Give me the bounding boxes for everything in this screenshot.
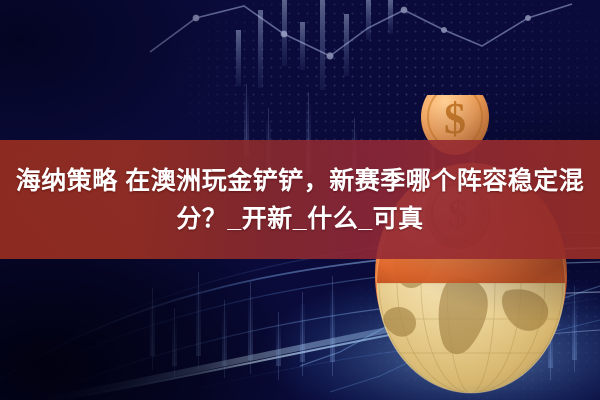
headline-line-2: 分？_开新_什么_可真 xyxy=(176,200,423,238)
headline-line-1: 海纳策略 在澳洲玩金铲铲，新赛季哪个阵容稳定混 xyxy=(16,162,584,200)
headline-banner: 海纳策略 在澳洲玩金铲铲，新赛季哪个阵容稳定混 分？_开新_什么_可真 xyxy=(0,140,600,259)
promo-image: $ $ 海纳策略 在澳洲玩金铲铲，新赛季哪个阵容稳定混 分？_开新_什么_可真 xyxy=(0,0,600,400)
